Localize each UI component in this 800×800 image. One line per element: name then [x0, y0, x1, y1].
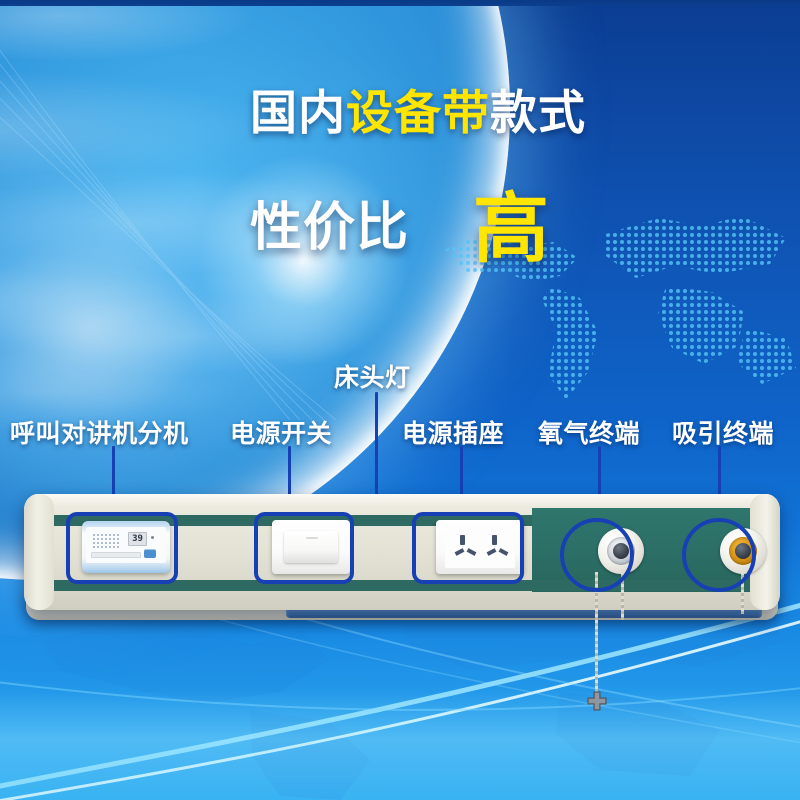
highlight-socket: [412, 512, 524, 584]
product-banner: 国内 设备带 款式 性价比 高 呼叫对讲机分机 电源开关 床头灯 电源插座 氧气…: [0, 0, 800, 800]
highlight-oxygen: [560, 518, 634, 592]
highlight-intercom: [66, 512, 178, 584]
highlight-layer: [0, 0, 800, 800]
highlight-suction: [682, 518, 756, 592]
highlight-switch: [254, 512, 354, 584]
